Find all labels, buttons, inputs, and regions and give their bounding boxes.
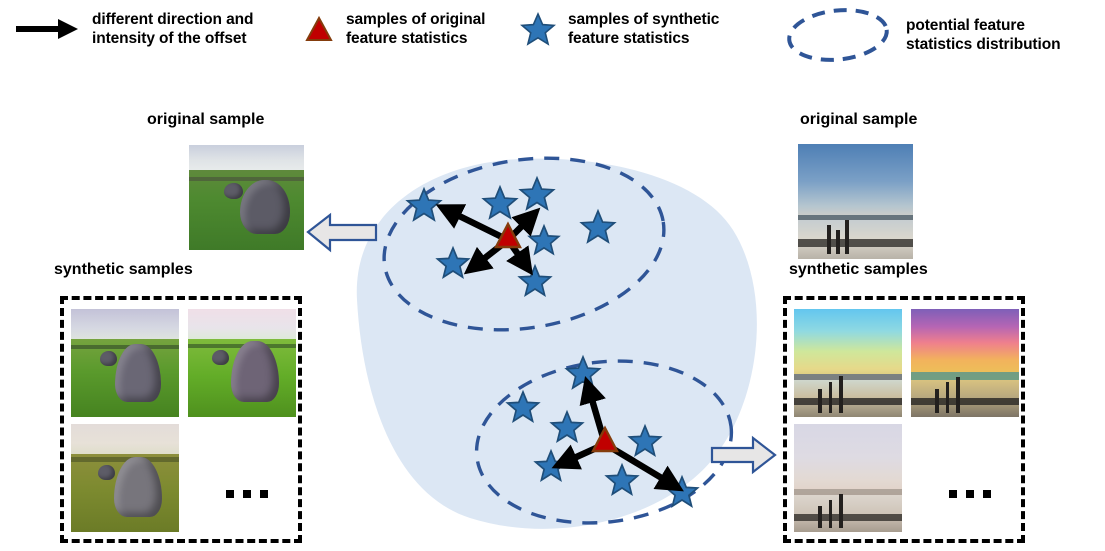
left-block-arrow-icon xyxy=(308,215,376,250)
figure-canvas: different direction and intensity of the… xyxy=(0,0,1105,551)
feature-statistics-diagram xyxy=(0,0,1105,551)
